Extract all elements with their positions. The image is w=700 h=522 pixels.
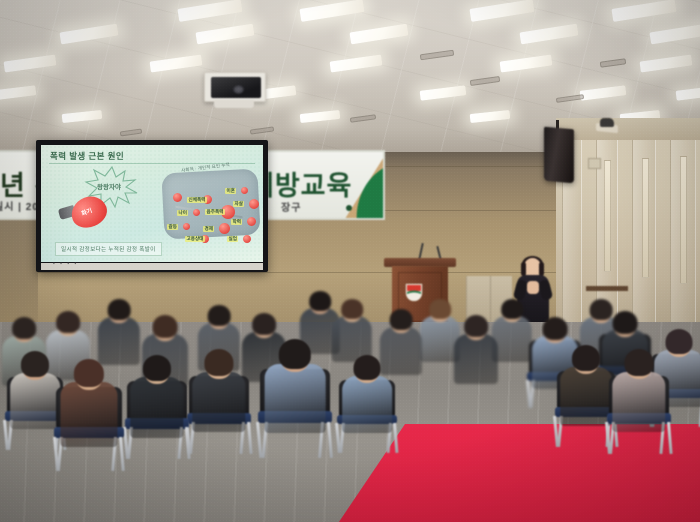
factor-sphere-label: 이혼 [225, 188, 236, 194]
side-ledge [586, 286, 628, 291]
factor-sphere-label: 고용상태 [185, 236, 205, 242]
factor-sphere [219, 223, 230, 234]
sphere-loose [173, 193, 182, 202]
banner-right-subtitle: 장구 [281, 199, 301, 214]
slide-caption: 일시적 감정보다는 누적된 감정 폭발이 [55, 242, 162, 256]
burst-label: 왕왕자야 [97, 181, 121, 191]
slide-surface: 폭력 발생 근본 원인 왕왕자야 화기 사회적 · 개인적 요인 누적 신체폭력… [41, 145, 263, 262]
ceiling-projector-mount [204, 72, 266, 102]
government-emblem-icon [404, 282, 424, 302]
presenter-hair-left [521, 262, 526, 276]
projection-screen: 폭력 발생 근본 원인 왕왕자야 화기 사회적 · 개인적 요인 누적 신체폭력… [36, 140, 268, 272]
taskbar-icons: ▪ ▪ ▪ ▪ [53, 261, 78, 267]
factor-sphere [241, 187, 248, 194]
projector-mount-foot [214, 100, 254, 108]
factor-sphere-label: 학력 [231, 219, 242, 225]
slide-title: 폭력 발생 근본 원인 [50, 150, 124, 162]
presenter-hair-right [539, 262, 544, 276]
projector-body [211, 77, 261, 98]
factor-sphere-label: 자살 [233, 201, 244, 207]
projector-lens [233, 85, 244, 94]
factor-sphere [193, 209, 200, 216]
right-wall [556, 118, 700, 333]
security-camera-icon [600, 118, 614, 127]
factor-sphere [183, 223, 190, 230]
factor-sphere-label: 경제 [203, 226, 214, 232]
stage-cabinet [466, 276, 512, 328]
lecture-hall-photo: 5년 건 일시 | 2025 예방교육 장구 폭력 발생 근본 원인 왕왕자야 … [0, 0, 700, 522]
factor-sphere [249, 199, 259, 209]
factor-sphere-label: 음주폭력 [205, 209, 225, 215]
right-wall-soffit [556, 118, 700, 140]
factor-sphere-label: 나이 [177, 210, 188, 216]
factor-sphere-label: 신체폭력 [187, 197, 207, 203]
factor-sphere-label: 실업 [227, 236, 238, 242]
wall-speaker [544, 127, 574, 184]
wall-junction-box [588, 158, 601, 169]
factor-sphere-label: 갈등 [167, 224, 178, 230]
presenter-hands [527, 281, 539, 294]
banner-leaf-graphic [313, 152, 385, 220]
screen-taskbar: ▪ ▪ ▪ ▪ [41, 263, 263, 270]
factor-sphere [247, 217, 256, 226]
factor-sphere [243, 235, 251, 243]
